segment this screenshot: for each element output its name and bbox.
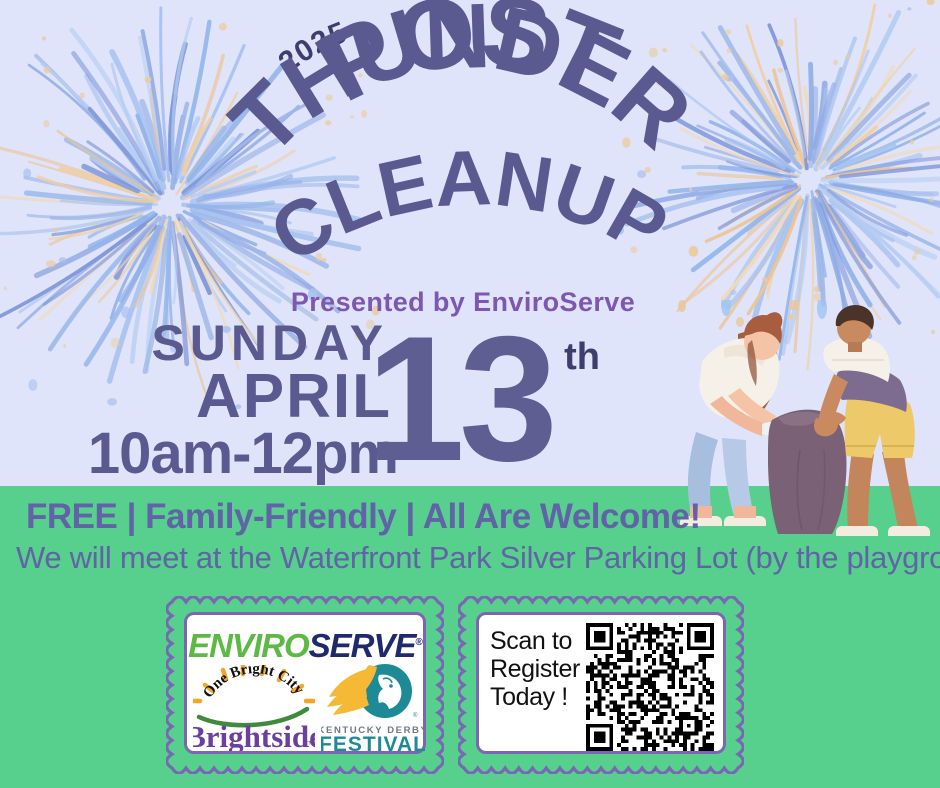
- date-text-column: SUNDAY APRIL 10am-12pm: [42, 318, 392, 484]
- banner-line-1: FREE | Family-Friendly | All Are Welcome…: [26, 497, 701, 537]
- event-flyer: 2025 POST THUNDER CLEANUP Presented by E…: [0, 0, 940, 788]
- qr-registration-card[interactable]: Scan to Register Today !: [458, 596, 744, 774]
- time-range-text: 10am-12pm: [42, 424, 398, 484]
- kdf-registered-mark: ®: [413, 712, 418, 719]
- scan-line-2: Register: [490, 655, 580, 683]
- qr-card-inner: Scan to Register Today !: [476, 612, 726, 754]
- month-text: APRIL: [42, 366, 392, 428]
- qr-code[interactable]: [586, 623, 714, 751]
- enviroserve-enviro-text: ENVIRO: [188, 627, 309, 664]
- ordinal-suffix-text: th: [564, 336, 600, 379]
- sponsor-logo-card: ENVIROSERVE®: [166, 596, 444, 774]
- scan-line-1: Scan to: [490, 627, 580, 655]
- enviroserve-registered-mark: ®: [416, 637, 422, 648]
- scan-line-3: Today !: [490, 683, 580, 711]
- logo-card-inner: ENVIROSERVE®: [184, 612, 426, 754]
- day-number-text: 13: [366, 310, 552, 488]
- brightside-name-text: Brightside: [193, 719, 315, 751]
- kentucky-derby-festival-logo: ® KENTUCKY DERBY FESTIVAL: [321, 659, 425, 753]
- volunteers-illustration: [666, 300, 940, 540]
- date-block: SUNDAY APRIL 10am-12pm 13 th: [30, 318, 630, 486]
- day-of-week-text: SUNDAY: [42, 318, 392, 368]
- brightside-tagline-text: One Bright City: [200, 665, 307, 701]
- banner-line-2: We will meet at the Waterfront Park Silv…: [16, 540, 940, 576]
- brightside-trademark: ™: [305, 739, 314, 749]
- brightside-logo: One Bright City Brightside ™: [193, 665, 315, 751]
- scan-call-to-action: Scan to Register Today !: [490, 627, 580, 711]
- kdf-line-2-text: FESTIVAL: [321, 733, 425, 753]
